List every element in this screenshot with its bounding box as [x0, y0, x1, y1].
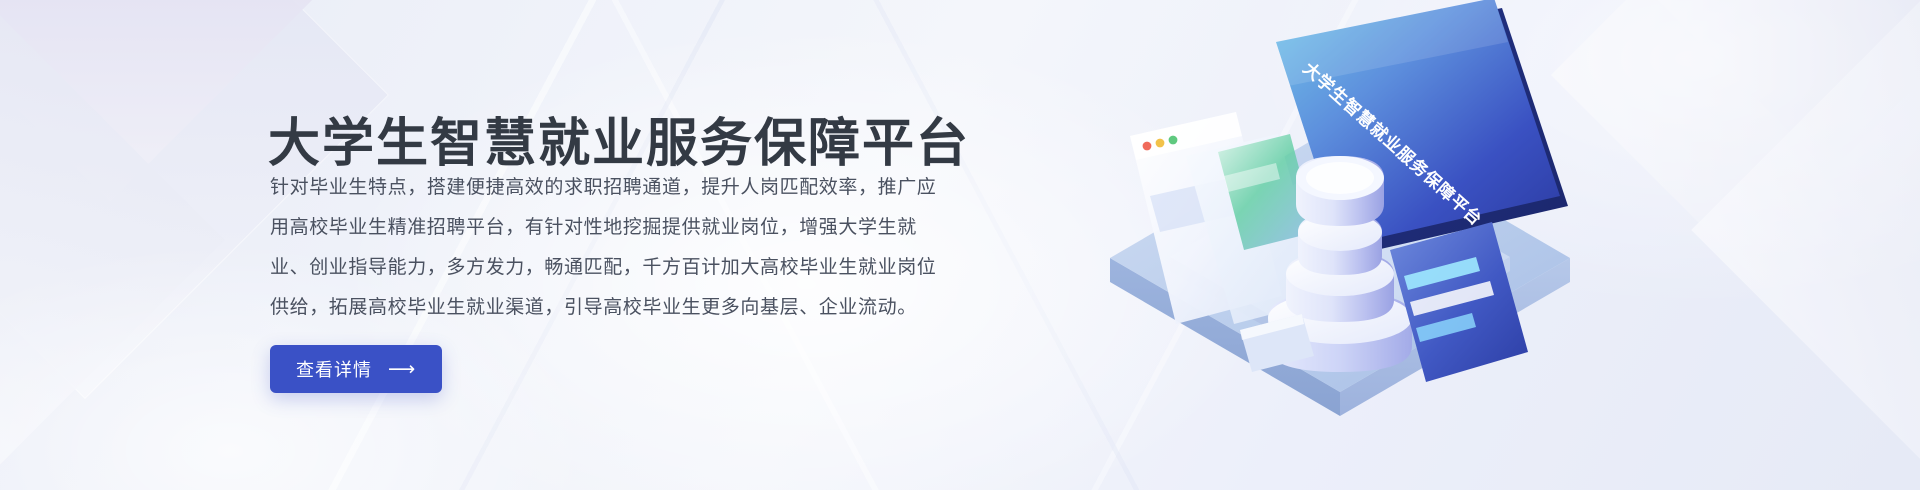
- yellow-dot-icon: [1156, 139, 1165, 148]
- decor-chevron-right-3: [1691, 0, 1920, 490]
- decor-chevron-right-2: [1618, 0, 1920, 172]
- hero-banner: 大学生智慧就业服务保障平台 针对毕业生特点，搭建便捷高效的求职招聘通道，提升人岗…: [0, 0, 1920, 490]
- arrow-right-icon: ⟶: [388, 360, 416, 379]
- description-line-4: 供给，拓展高校毕业生就业渠道，引导高校毕业生更多向基层、企业流动。: [270, 288, 1030, 328]
- description-line-1: 针对毕业生特点，搭建便捷高效的求职招聘通道，提升人岗匹配效率，推广应: [270, 168, 1030, 208]
- decor-chevron-left-3: [0, 0, 225, 490]
- banner-content: 大学生智慧就业服务保障平台 针对毕业生特点，搭建便捷高效的求职招聘通道，提升人岗…: [268, 0, 1058, 490]
- page-title: 大学生智慧就业服务保障平台: [268, 113, 970, 175]
- view-details-label: 查看详情: [296, 356, 372, 382]
- hero-illustration: 大学生智慧就业服务保障平台: [1090, 0, 1650, 490]
- banner-description: 针对毕业生特点，搭建便捷高效的求职招聘通道，提升人岗匹配效率，推广应 用高校毕业…: [270, 168, 1030, 328]
- green-dot-icon: [1169, 136, 1178, 145]
- red-dot-icon: [1143, 142, 1152, 151]
- description-line-3: 业、创业指导能力，多方发力，畅通匹配，千方百计加大高校毕业生就业岗位: [270, 248, 1030, 288]
- description-line-2: 用高校毕业生精准招聘平台，有针对性地挖掘提供就业岗位，增强大学生就: [270, 208, 1030, 248]
- view-details-button[interactable]: 查看详情 ⟶: [270, 345, 442, 393]
